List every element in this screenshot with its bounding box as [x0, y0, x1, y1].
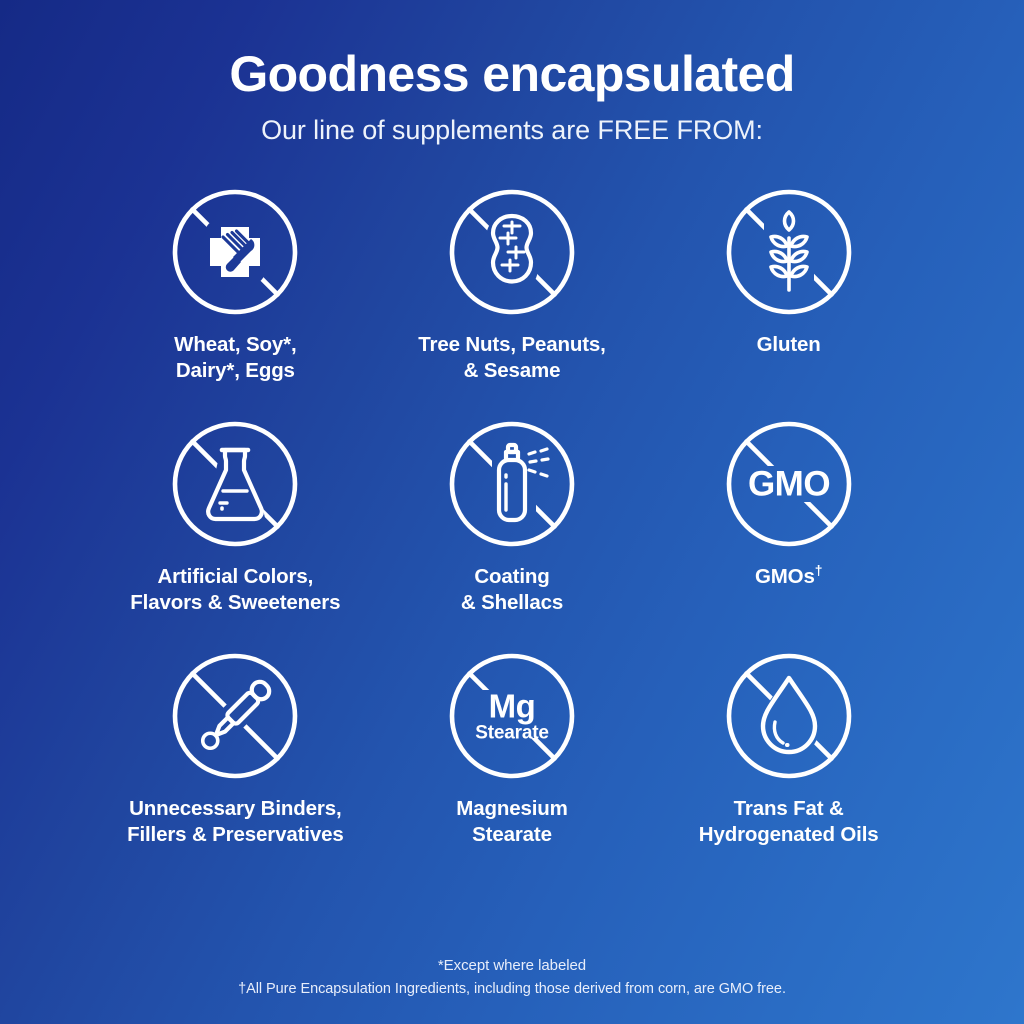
grid-item: Trans Fat & Hydrogenated Oils: [650, 650, 927, 882]
grid-item-label: Gluten: [757, 332, 821, 358]
grid-item-label: Unnecessary Binders, Fillers & Preservat…: [127, 796, 344, 848]
grid-item: Unnecessary Binders, Fillers & Preservat…: [97, 650, 374, 882]
free-from-grid: Wheat, Soy*, Dairy*, Eggs: [97, 186, 927, 882]
no-peanut-icon: [446, 186, 578, 318]
grid-item: GMO GMOs†: [650, 418, 927, 650]
no-magnesium-stearate-icon: Mg Stearate: [446, 650, 578, 782]
grid-item: Wheat, Soy*, Dairy*, Eggs: [97, 186, 374, 418]
header: Goodness encapsulated Our line of supple…: [0, 0, 1024, 146]
grid-item: Tree Nuts, Peanuts, & Sesame: [374, 186, 651, 418]
grid-item: Coating & Shellacs: [374, 418, 651, 650]
no-gmo-icon: GMO: [723, 418, 855, 550]
poster-root: Goodness encapsulated Our line of supple…: [0, 0, 1024, 1024]
footnote-dagger: †All Pure Encapsulation Ingredients, inc…: [0, 978, 1024, 1000]
grid-item-label: GMOs†: [755, 564, 822, 590]
grid-item: Gluten: [650, 186, 927, 418]
grid-item-label: Magnesium Stearate: [456, 796, 567, 848]
grid-item: Mg Stearate Magnesium Stearate: [374, 650, 651, 882]
grid-item-label: Wheat, Soy*, Dairy*, Eggs: [174, 332, 296, 384]
dagger-superscript: †: [815, 562, 823, 578]
grid-item-label: Tree Nuts, Peanuts, & Sesame: [418, 332, 605, 384]
grid-item-label: Trans Fat & Hydrogenated Oils: [699, 796, 879, 848]
page-title: Goodness encapsulated: [0, 48, 1024, 101]
footnotes: *Except where labeled †All Pure Encapsul…: [0, 954, 1024, 1000]
footnote-asterisk: *Except where labeled: [0, 954, 1024, 977]
no-gluten-wheat-icon: [723, 186, 855, 318]
grid-item: Artificial Colors, Flavors & Sweeteners: [97, 418, 374, 650]
no-allergen-cross-fork-icon: [169, 186, 301, 318]
no-coating-spray-can-icon: [446, 418, 578, 550]
stearate-icon-text: Stearate: [475, 723, 548, 744]
grid-item-label: Artificial Colors, Flavors & Sweeteners: [130, 564, 340, 616]
mg-icon-text: Mg: [489, 688, 536, 725]
no-artificial-flask-icon: [169, 418, 301, 550]
grid-item-label: Coating & Shellacs: [461, 564, 563, 616]
no-binders-dropper-icon: [169, 650, 301, 782]
page-subtitle: Our line of supplements are FREE FROM:: [0, 115, 1024, 146]
gmo-icon-text: GMO: [748, 465, 830, 504]
no-trans-fat-droplet-icon: [723, 650, 855, 782]
